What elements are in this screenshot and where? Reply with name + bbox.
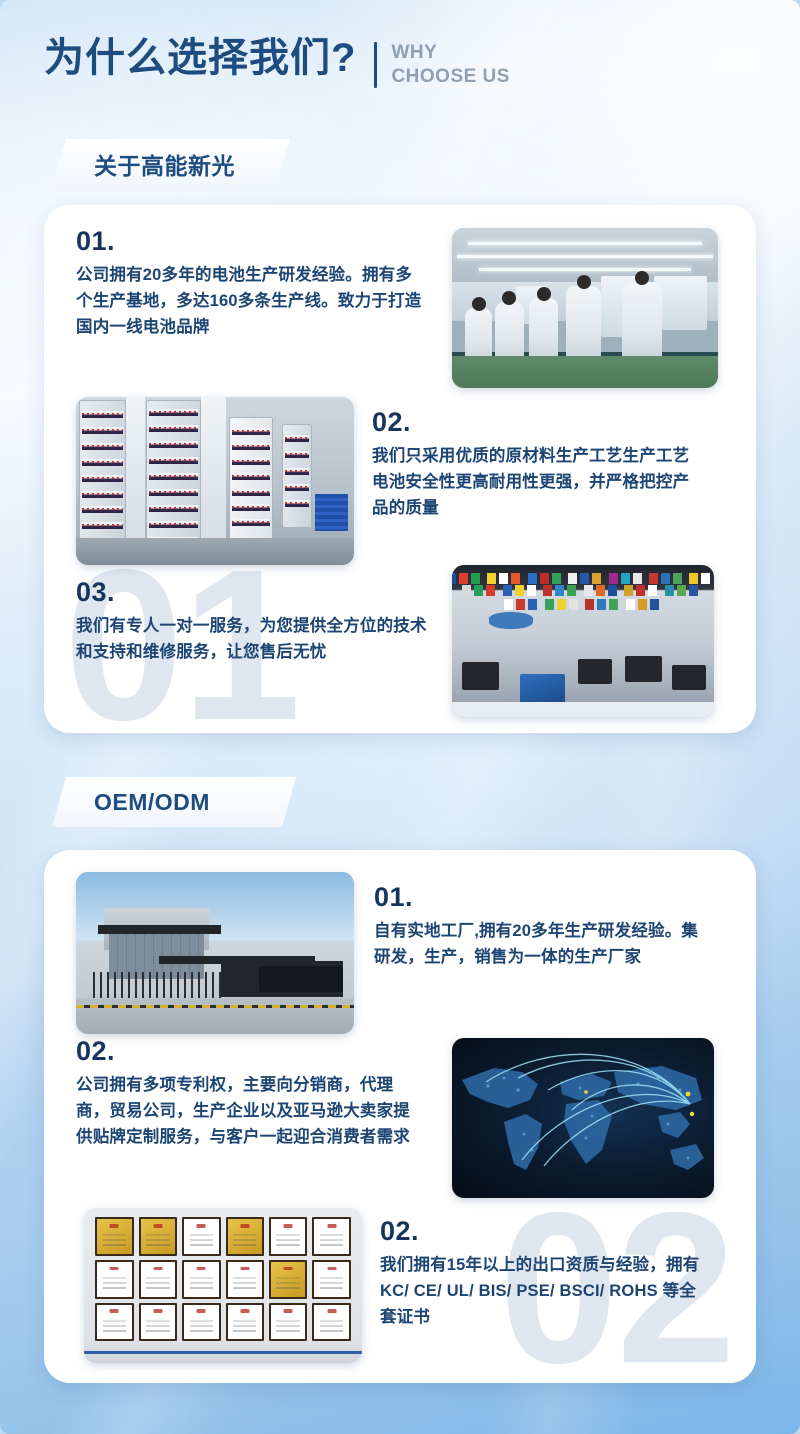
world-map-photo (452, 1038, 714, 1198)
about-item-3: 03. 我们有专人一对一服务，为您提供全方位的技术和支持和维修服务，让您售后无忧 (76, 565, 724, 717)
certificates-wall-photo (84, 1208, 362, 1363)
about-item-2-text: 02. 我们只采用优质的原材料生产工艺生产工艺电池安全性更高耐用性更强，并严格把… (372, 397, 702, 565)
production-line-photo (452, 228, 718, 388)
section-tag-oem: OEM/ODM (52, 777, 296, 827)
title-english-line2: CHOOSE US (391, 65, 510, 89)
about-item-1-text: 01. 公司拥有20多年的电池生产研发经验。拥有多个生产基地，多达160多条生产… (76, 228, 426, 388)
title-english-line1: WHY (391, 41, 510, 65)
page-title: 为什么选择我们? (44, 36, 356, 81)
about-item-1: 01. 公司拥有20多年的电池生产研发经验。拥有多个生产基地，多达160多条生产… (76, 228, 724, 388)
oem-item-2-number: 02. (76, 1038, 426, 1065)
oem-item-1-body: 自有实地工厂,拥有20多年生产研发经验。集研发，生产，销售为一体的生产厂家 (374, 918, 704, 970)
page-header: 为什么选择我们? WHY CHOOSE US (44, 36, 510, 90)
battery-rack-photo (76, 397, 354, 565)
oem-item-2: 02. 公司拥有多项专利权，主要向分销商，代理商，贸易公司，生产企业以及亚马逊大… (76, 1038, 724, 1198)
oem-item-3-body: 我们拥有15年以上的出口资质与经验，拥有 KC/ CE/ UL/ BIS/ PS… (380, 1252, 700, 1330)
section-card-about: 01 01. 公司拥有20多年的电池生产研发经验。拥有多个生产基地，多达160多… (44, 205, 756, 733)
section-card-oem: 02 01. 自有实地工厂,拥有20多年生产研发经验。集研发，生产，销售为一体的… (44, 850, 756, 1383)
title-divider (374, 42, 377, 88)
oem-item-1-number: 01. (374, 884, 704, 911)
about-item-3-number: 03. (76, 579, 428, 606)
about-item-1-number: 01. (76, 228, 426, 255)
oem-item-1: 01. 自有实地工厂,拥有20多年生产研发经验。集研发，生产，销售为一体的生产厂… (76, 872, 724, 1034)
page-title-english: WHY CHOOSE US (391, 41, 510, 90)
about-item-2: 02. 我们只采用优质的原材料生产工艺生产工艺电池安全性更高耐用性更强，并严格把… (76, 397, 724, 565)
oem-item-3-number: 02. (380, 1218, 700, 1245)
about-item-3-text: 03. 我们有专人一对一服务，为您提供全方位的技术和支持和维修服务，让您售后无忧 (76, 565, 428, 717)
oem-item-2-body: 公司拥有多项专利权，主要向分销商，代理商，贸易公司，生产企业以及亚马逊大卖家提供… (76, 1072, 426, 1150)
oem-item-1-text: 01. 自有实地工厂,拥有20多年生产研发经验。集研发，生产，销售为一体的生产厂… (374, 872, 704, 1034)
about-item-2-body: 我们只采用优质的原材料生产工艺生产工艺电池安全性更高耐用性更强，并严格把控产品的… (372, 443, 702, 521)
factory-building-photo (76, 872, 354, 1034)
about-item-2-number: 02. (372, 409, 702, 436)
section-tag-about-label: 关于高能新光 (94, 147, 235, 181)
oem-item-3-text: 02. 我们拥有15年以上的出口资质与经验，拥有 KC/ CE/ UL/ BIS… (380, 1208, 700, 1363)
section-tag-about: 关于高能新光 (52, 139, 290, 189)
about-item-1-body: 公司拥有20多年的电池生产研发经验。拥有多个生产基地，多达160多条生产线。致力… (76, 262, 426, 340)
section-tag-oem-label: OEM/ODM (94, 789, 210, 816)
oem-item-2-text: 02. 公司拥有多项专利权，主要向分销商，代理商，贸易公司，生产企业以及亚马逊大… (76, 1038, 426, 1198)
about-item-3-body: 我们有专人一对一服务，为您提供全方位的技术和支持和维修服务，让您售后无忧 (76, 613, 428, 665)
oem-item-3: 02. 我们拥有15年以上的出口资质与经验，拥有 KC/ CE/ UL/ BIS… (84, 1208, 732, 1363)
office-flags-photo (452, 565, 714, 717)
